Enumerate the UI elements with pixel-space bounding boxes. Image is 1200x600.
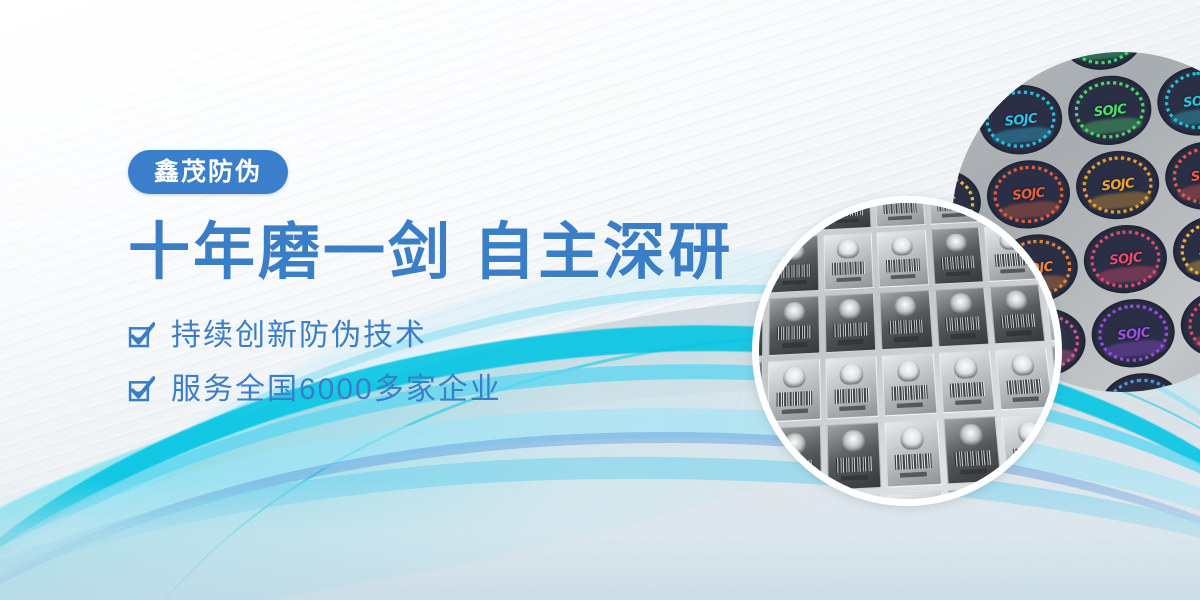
holo-label: SOJC (952, 52, 969, 93)
silver-label (881, 352, 936, 416)
holo-label: SOJC (976, 81, 1066, 158)
holo-label: SOJC (1170, 211, 1200, 288)
silver-label (1001, 413, 1061, 481)
feature-item: 持续创新防伪技术 (128, 321, 748, 351)
checkbox-check-icon (128, 376, 155, 403)
silver-label (884, 419, 941, 487)
silver-label (938, 349, 995, 413)
holo-label: SOJC (1097, 370, 1187, 392)
holo-label: SOJC (1186, 360, 1200, 392)
silver-label (824, 292, 876, 353)
banner-content: 鑫茂防伪 十年磨一剑 自主深研 持续创新防伪技术 服务全国6000多家企业 (128, 150, 748, 405)
silver-label (876, 229, 928, 286)
holo-label: SOJC (1057, 52, 1147, 74)
silver-label (934, 286, 989, 346)
silver-label (823, 232, 874, 289)
silver-label (825, 355, 879, 419)
silver-label (989, 283, 1045, 343)
brand-badge: 鑫茂防伪 (128, 150, 288, 194)
silver-security-labels-photo (752, 196, 1062, 506)
holo-label: SOJC (968, 52, 1058, 84)
holo-label: SOJC (1065, 72, 1155, 149)
silver-label (984, 224, 1039, 281)
feature-item: 服务全国6000多家企业 (128, 375, 748, 405)
silver-label (767, 425, 821, 493)
silver-label (874, 196, 925, 227)
silver-label (768, 295, 819, 356)
silver-label (769, 235, 819, 293)
silver-label (826, 422, 881, 490)
silver-label (930, 227, 983, 284)
headline: 十年磨一剑 自主深研 (128, 220, 748, 287)
holo-label: SOJC (1073, 146, 1163, 223)
checkbox-check-icon (128, 322, 155, 349)
holo-label: SOJC (952, 91, 977, 168)
holo-label: SOJC (1162, 137, 1200, 214)
silver-label (879, 289, 933, 350)
silver-label (942, 416, 1001, 484)
feature-list: 持续创新防伪技术 服务全国6000多家企业 (128, 321, 748, 405)
feature-item-label: 持续创新防伪技术 (171, 321, 427, 351)
feature-item-label: 服务全国6000多家企业 (171, 375, 502, 405)
promo-banner: SOJC SOJC SOJC SOJC SOJC SOJC SOJC SOJC … (0, 0, 1200, 600)
silver-label-grid (752, 196, 1062, 506)
holo-label: SOJC (1155, 63, 1200, 140)
silver-label (995, 346, 1053, 410)
silver-label (768, 358, 821, 422)
holo-label: SOJC (1081, 221, 1171, 298)
holo-label: SOJC (1147, 52, 1200, 65)
holo-label: SOJC (1089, 295, 1179, 372)
holo-label: SOJC (1178, 286, 1200, 363)
